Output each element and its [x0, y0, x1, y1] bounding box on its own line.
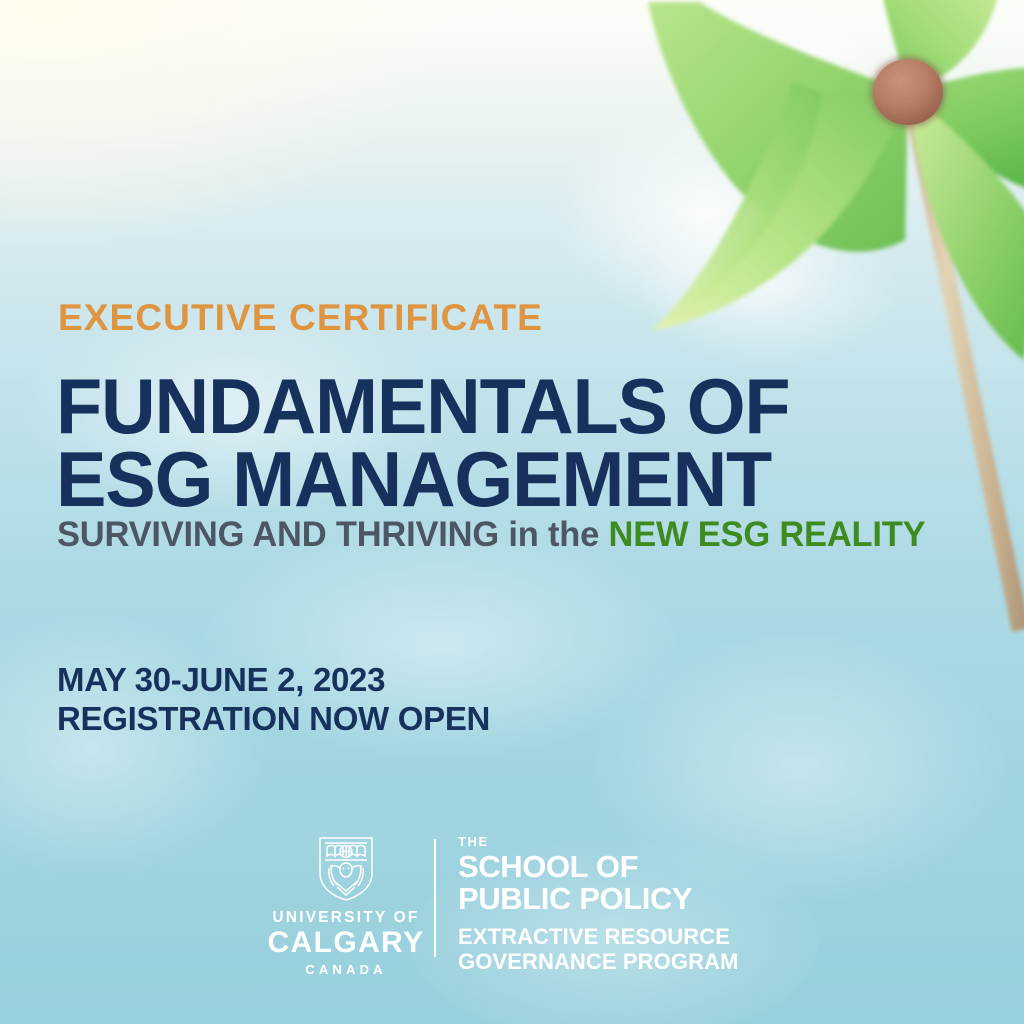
university-wordmark: UNIVERSITY OF CALGARY CANADA [267, 910, 424, 976]
ucalgary-shield-crest-icon [316, 835, 376, 903]
poster-content: EXECUTIVE CERTIFICATE FUNDAMENTALS OF ES… [0, 0, 1024, 1024]
registration-status: REGISTRATION NOW OPEN [57, 700, 490, 739]
program-name-line-2: GOVERNANCE PROGRAM [458, 950, 739, 975]
logo-divider [434, 839, 436, 957]
school-name-line-2: PUBLIC POLICY [458, 883, 739, 915]
program-name-line-1: EXTRACTIVE RESOURCE [458, 925, 739, 950]
event-details: MAY 30-JUNE 2, 2023 REGISTRATION NOW OPE… [57, 661, 490, 738]
school-of-public-policy-logo: THE SCHOOL OF PUBLIC POLICY EXTRACTIVE R… [458, 833, 739, 974]
promotional-poster: EXECUTIVE CERTIFICATE FUNDAMENTALS OF ES… [0, 0, 1024, 1024]
subheadline: SURVIVING AND THRIVING in the NEW ESG RE… [57, 515, 925, 555]
eyebrow-label: EXECUTIVE CERTIFICATE [58, 297, 543, 339]
school-article: THE [458, 835, 739, 848]
university-wordmark-line-1: UNIVERSITY OF [267, 910, 424, 926]
university-wordmark-line-3: CANADA [267, 963, 424, 976]
subheadline-accent: NEW ESG REALITY [609, 515, 926, 554]
school-name: SCHOOL OF PUBLIC POLICY [458, 851, 739, 914]
event-date: MAY 30-JUNE 2, 2023 [57, 661, 490, 700]
university-wordmark-line-2: CALGARY [267, 928, 424, 958]
logo-lockup: UNIVERSITY OF CALGARY CANADA THE SCHOOL … [276, 833, 739, 976]
school-name-line-1: SCHOOL OF [458, 851, 739, 883]
headline-line-2: ESG MANAGEMENT [56, 443, 789, 516]
subheadline-primary: SURVIVING AND THRIVING [57, 515, 499, 554]
university-of-calgary-logo: UNIVERSITY OF CALGARY CANADA [276, 833, 416, 976]
program-name: EXTRACTIVE RESOURCE GOVERNANCE PROGRAM [458, 925, 739, 974]
subheadline-connector: in the [508, 515, 599, 554]
page-title: FUNDAMENTALS OF ESG MANAGEMENT [56, 370, 789, 517]
